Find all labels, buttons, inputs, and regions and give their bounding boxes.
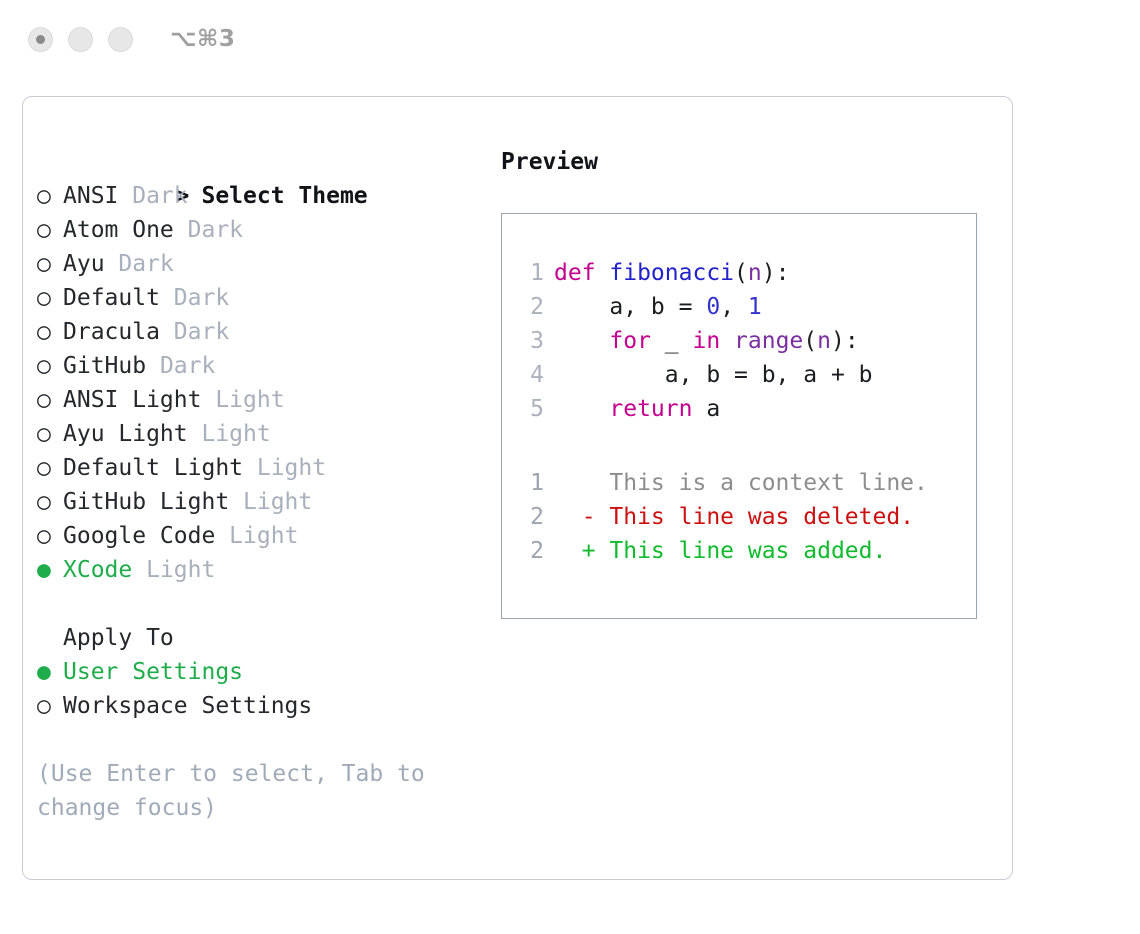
code-line: 4 a, b = b, a + b	[518, 358, 976, 392]
radio-unselected-icon[interactable]: ○	[37, 247, 63, 281]
theme-type-label: Light	[188, 421, 271, 447]
theme-list-item[interactable]: ○Dracula Dark	[37, 315, 497, 349]
theme-type-label: Dark	[160, 319, 229, 345]
apply-to-list: ●User Settings○Workspace Settings	[37, 655, 497, 723]
theme-list-item[interactable]: ○Atom One Dark	[37, 213, 497, 247]
select-theme-heading-label: Select Theme	[201, 183, 367, 209]
theme-type-label: Dark	[118, 183, 187, 209]
active-indicator-dot	[36, 35, 45, 44]
theme-name-label: Ayu Light	[63, 421, 188, 447]
diff-marker: -	[554, 504, 596, 530]
code-token: in	[692, 328, 720, 354]
title-bar: ⌥⌘3	[0, 0, 1140, 78]
theme-list-item[interactable]: ○GitHub Light Light	[37, 485, 497, 519]
theme-list: ○ANSI Dark○Atom One Dark○Ayu Dark○Defaul…	[37, 179, 497, 587]
main-panel: >Select Theme ○ANSI Dark○Atom One Dark○A…	[22, 96, 1013, 880]
theme-type-label: Light	[243, 455, 326, 481]
code-token: def	[554, 260, 609, 286]
radio-unselected-icon[interactable]: ○	[37, 383, 63, 417]
code-token: return	[609, 396, 692, 422]
diff-line: 2 + This line was added.	[518, 534, 976, 568]
diff-line-number: 1	[518, 466, 544, 500]
radio-selected-icon[interactable]: ●	[37, 553, 63, 587]
radio-unselected-icon[interactable]: ○	[37, 451, 63, 485]
radio-unselected-icon[interactable]: ○	[37, 519, 63, 553]
code-token: for	[609, 328, 651, 354]
theme-name-label: Google Code	[63, 523, 215, 549]
theme-name-label: XCode	[63, 557, 132, 583]
code-line: 1def fibonacci(n):	[518, 256, 976, 290]
radio-unselected-icon[interactable]: ○	[37, 315, 63, 349]
theme-list-item[interactable]: ○Ayu Light Light	[37, 417, 497, 451]
theme-name-label: ANSI	[63, 183, 118, 209]
theme-type-label: Light	[132, 557, 215, 583]
theme-selector-column: >Select Theme ○ANSI Dark○Atom One Dark○A…	[37, 145, 497, 825]
diff-text: This line was deleted.	[596, 504, 915, 530]
code-token: ,	[720, 294, 748, 320]
code-token: a, b =	[554, 294, 706, 320]
theme-name-label: ANSI Light	[63, 387, 201, 413]
code-token: a, b = b, a + b	[554, 362, 873, 388]
code-token: range	[734, 328, 803, 354]
theme-name-label: Default Light	[63, 455, 243, 481]
code-token: n	[748, 260, 762, 286]
code-token: 1	[748, 294, 762, 320]
theme-name-label: Ayu	[63, 251, 105, 277]
theme-name-label: Default	[63, 285, 160, 311]
radio-unselected-icon[interactable]: ○	[37, 281, 63, 315]
theme-type-label: Light	[201, 387, 284, 413]
preview-gap	[518, 426, 976, 466]
diff-line: 2 - This line was deleted.	[518, 500, 976, 534]
code-token: ):	[831, 328, 859, 354]
preview-box: 1def fibonacci(n):2 a, b = 0, 13 for _ i…	[501, 213, 977, 619]
code-token: ):	[762, 260, 790, 286]
diff-line: 1 This is a context line.	[518, 466, 976, 500]
theme-type-label: Dark	[146, 353, 215, 379]
code-line-number: 5	[518, 392, 544, 426]
radio-selected-icon[interactable]: ●	[37, 655, 63, 689]
code-line-number: 1	[518, 256, 544, 290]
apply-to-label-text: User Settings	[63, 659, 243, 685]
list-spacer	[37, 587, 497, 621]
code-token: 0	[706, 294, 720, 320]
theme-name-label: Atom One	[63, 217, 174, 243]
radio-unselected-icon[interactable]: ○	[37, 349, 63, 383]
theme-list-item[interactable]: ○GitHub Dark	[37, 349, 497, 383]
radio-unselected-icon[interactable]: ○	[37, 485, 63, 519]
theme-type-label: Dark	[174, 217, 243, 243]
traffic-light-third-button[interactable]	[108, 27, 133, 52]
code-preview-block: 1def fibonacci(n):2 a, b = 0, 13 for _ i…	[518, 256, 976, 426]
code-token	[554, 328, 609, 354]
theme-name-label: GitHub Light	[63, 489, 229, 515]
radio-unselected-icon[interactable]: ○	[37, 213, 63, 247]
theme-name-label: Dracula	[63, 319, 160, 345]
code-token: fibonacci	[609, 260, 734, 286]
theme-list-item[interactable]: ○ANSI Light Light	[37, 383, 497, 417]
radio-unselected-icon[interactable]: ○	[37, 689, 63, 723]
theme-type-label: Light	[215, 523, 298, 549]
app-window: ⌥⌘3 >Select Theme ○ANSI Dark○Atom One Da…	[0, 0, 1140, 934]
select-theme-heading: >Select Theme	[37, 145, 497, 179]
keyboard-shortcut-label: ⌥⌘3	[170, 26, 235, 52]
radio-unselected-icon[interactable]: ○	[37, 417, 63, 451]
code-token: (	[734, 260, 748, 286]
diff-text: This is a context line.	[596, 470, 928, 496]
code-line-number: 2	[518, 290, 544, 324]
diff-line-number: 2	[518, 500, 544, 534]
diff-preview-block: 1 This is a context line.2 - This line w…	[518, 466, 976, 568]
diff-marker: +	[554, 538, 596, 564]
theme-type-label: Dark	[105, 251, 174, 277]
apply-to-label-text: Workspace Settings	[63, 693, 312, 719]
apply-to-item[interactable]: ●User Settings	[37, 655, 497, 689]
theme-list-item[interactable]: ○Google Code Light	[37, 519, 497, 553]
keyboard-hint-text: (Use Enter to select, Tab to change focu…	[37, 757, 457, 825]
code-token	[554, 396, 609, 422]
traffic-light-second-button[interactable]	[68, 27, 93, 52]
code-token	[720, 328, 734, 354]
diff-line-number: 2	[518, 534, 544, 568]
code-line: 2 a, b = 0, 1	[518, 290, 976, 324]
code-token: _	[651, 328, 693, 354]
diff-marker	[554, 470, 596, 496]
theme-list-item[interactable]: ○Default Dark	[37, 281, 497, 315]
theme-name-label: GitHub	[63, 353, 146, 379]
preview-title: Preview	[501, 145, 1001, 179]
theme-type-label: Light	[229, 489, 312, 515]
apply-to-item[interactable]: ○Workspace Settings	[37, 689, 497, 723]
code-line: 5 return a	[518, 392, 976, 426]
preview-column: Preview 1def fibonacci(n):2 a, b = 0, 13…	[501, 145, 1001, 619]
theme-list-item[interactable]: ○Default Light Light	[37, 451, 497, 485]
code-line: 3 for _ in range(n):	[518, 324, 976, 358]
traffic-light-active-button[interactable]	[28, 27, 53, 52]
theme-list-item[interactable]: ○Ayu Dark	[37, 247, 497, 281]
code-line-number: 3	[518, 324, 544, 358]
diff-text: This line was added.	[596, 538, 887, 564]
theme-list-item[interactable]: ●XCode Light	[37, 553, 497, 587]
radio-unselected-icon[interactable]: ○	[37, 179, 63, 213]
apply-to-heading: Apply To	[37, 621, 497, 655]
code-line-number: 4	[518, 358, 544, 392]
code-token: (	[803, 328, 817, 354]
code-token: a	[692, 396, 720, 422]
theme-type-label: Dark	[160, 285, 229, 311]
code-token: n	[817, 328, 831, 354]
